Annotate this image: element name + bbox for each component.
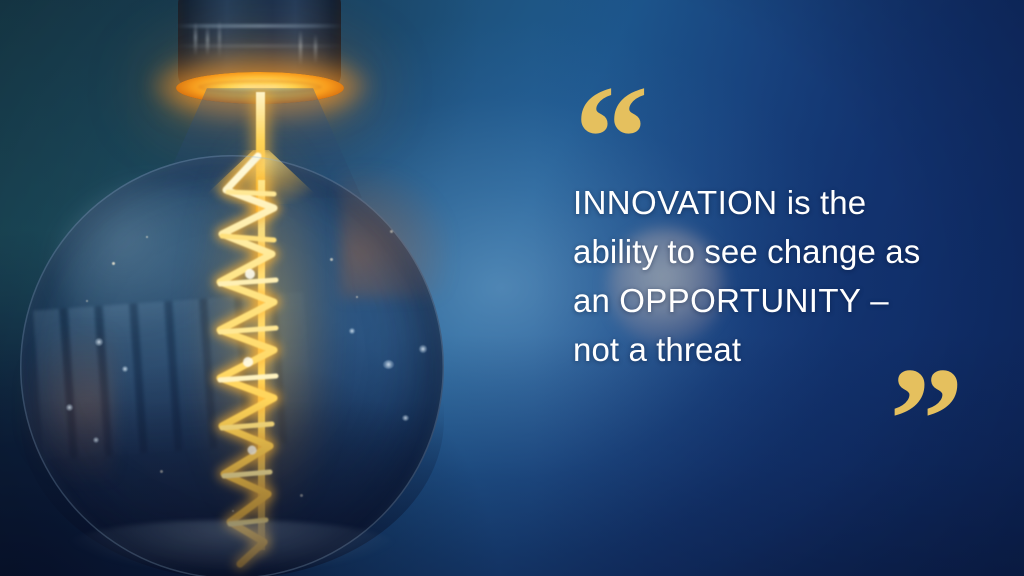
quote-emphasis-opportunity: OPPORTUNITY – <box>619 282 889 319</box>
quote-line-2: ability to see change as <box>573 227 973 276</box>
quote-emphasis-innovation: INNOVATION <box>573 184 777 221</box>
quote-line-3: an OPPORTUNITY – <box>573 276 973 325</box>
quote-line-1-rest: is the <box>777 184 866 221</box>
quote-line-1: INNOVATION is the <box>573 178 973 227</box>
closing-quote-mark: ” <box>889 345 965 495</box>
quote-line-3-prefix: an <box>573 282 619 319</box>
quote-slide: “ INNOVATION is the ability to see chang… <box>0 0 1024 576</box>
